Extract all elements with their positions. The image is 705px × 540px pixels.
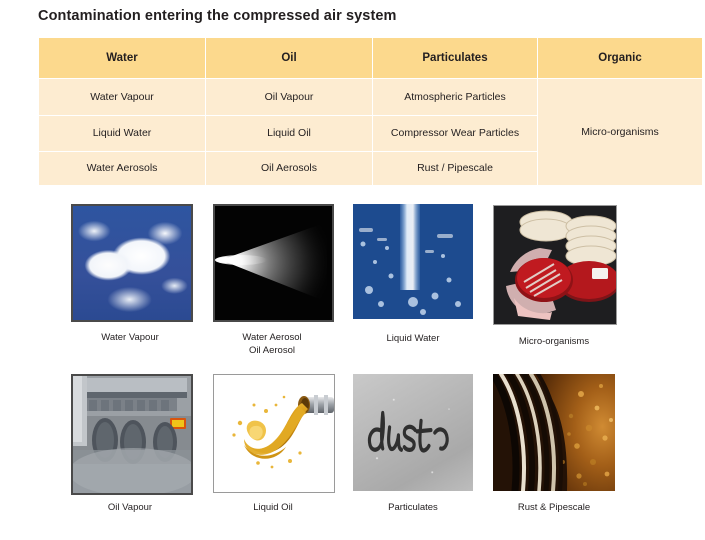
truck-exhaust-image — [73, 376, 191, 493]
cell-particulates-3: Rust / Pipescale — [373, 152, 538, 186]
caption-aerosol: Water Aerosol Oil Aerosol — [203, 332, 341, 357]
caption-particulates: Particulates — [343, 502, 483, 515]
cell-particulates-2: Compressor Wear Particles — [373, 116, 538, 152]
thumbnail-particulates — [353, 374, 473, 491]
caption-liquid-water: Liquid Water — [343, 333, 483, 346]
page-title: Contamination entering the compressed ai… — [38, 8, 397, 24]
cell-oil-2: Liquid Oil — [206, 116, 373, 152]
table-header-particulates: Particulates — [373, 38, 538, 79]
caption-rust-pipescale: Rust & Pipescale — [483, 502, 625, 515]
table-header-water: Water — [39, 38, 206, 79]
rust-pipescale-image — [493, 374, 615, 491]
contamination-table: Water Oil Particulates Organic Water Vap… — [38, 37, 703, 186]
water-stream-icon — [353, 204, 473, 319]
thumbnail-oil-vapour — [71, 374, 193, 495]
caption-micro-organisms: Micro-organisms — [483, 336, 625, 349]
table-row: Water Vapour Oil Vapour Atmospheric Part… — [39, 79, 703, 116]
water-image — [353, 204, 473, 319]
cell-water-2: Liquid Water — [39, 116, 206, 152]
table-header-oil: Oil — [206, 38, 373, 79]
cell-oil-1: Oil Vapour — [206, 79, 373, 116]
petri-dish-image — [494, 206, 616, 324]
cell-oil-3: Oil Aerosols — [206, 152, 373, 186]
cell-organic-merged: Micro-organisms — [538, 79, 703, 186]
cell-particulates-1: Atmospheric Particles — [373, 79, 538, 116]
caption-oil-vapour: Oil Vapour — [61, 502, 199, 515]
rusty-pipe-icon — [493, 374, 615, 491]
petri-dishes-icon — [494, 206, 616, 324]
spray-image — [215, 206, 332, 320]
clouds-image — [73, 206, 191, 320]
thumbnail-micro-organisms — [493, 205, 617, 325]
cell-water-3: Water Aerosols — [39, 152, 206, 186]
thumbnail-aerosol — [213, 204, 334, 322]
thumbnail-liquid-water — [353, 204, 473, 319]
table-header-organic: Organic — [538, 38, 703, 79]
caption-water-vapour: Water Vapour — [61, 332, 199, 345]
table-header-row: Water Oil Particulates Organic — [39, 38, 703, 79]
thumbnail-liquid-oil — [213, 374, 335, 493]
dust-handwriting-icon — [364, 409, 462, 462]
spray-cone-icon — [215, 206, 332, 320]
truck-icon — [73, 376, 191, 493]
thumbnail-rust-pipescale — [493, 374, 615, 491]
slide-root: Contamination entering the compressed ai… — [0, 0, 705, 540]
oil-splash-icon — [214, 375, 334, 492]
dust-image — [353, 374, 473, 491]
cell-water-1: Water Vapour — [39, 79, 206, 116]
oil-splash-image — [214, 375, 334, 492]
thumbnail-water-vapour — [71, 204, 193, 322]
caption-liquid-oil: Liquid Oil — [203, 502, 343, 515]
